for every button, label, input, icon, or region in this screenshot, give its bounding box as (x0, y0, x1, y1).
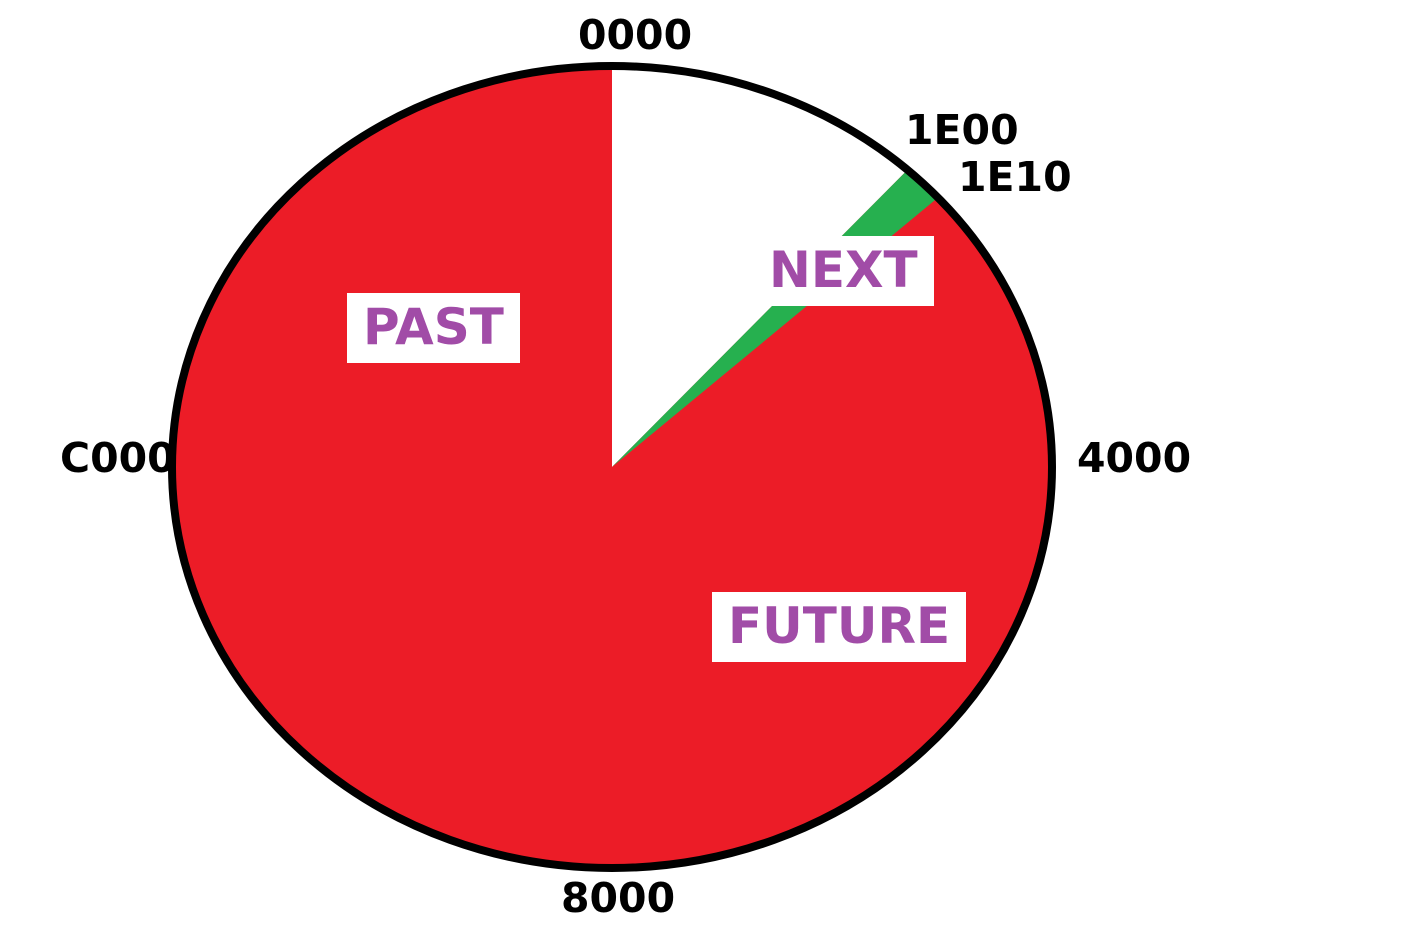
tick-label-0000: 0000 (578, 15, 692, 56)
tick-label-1E00: 1E00 (905, 110, 1019, 151)
segment-label-future[interactable]: FUTURE (712, 592, 966, 662)
pie-wheel-svg (0, 0, 1404, 949)
segment-label-next[interactable]: NEXT (753, 236, 934, 306)
tick-label-C000: C000 (60, 438, 176, 479)
tick-label-1E10: 1E10 (958, 157, 1072, 198)
segment-label-past[interactable]: PAST (347, 293, 520, 363)
tick-label-4000: 4000 (1077, 438, 1191, 479)
wheel-figure: 0000 1E00 1E10 4000 8000 C000 PAST NEXT … (0, 0, 1404, 949)
tick-label-8000: 8000 (561, 878, 675, 919)
